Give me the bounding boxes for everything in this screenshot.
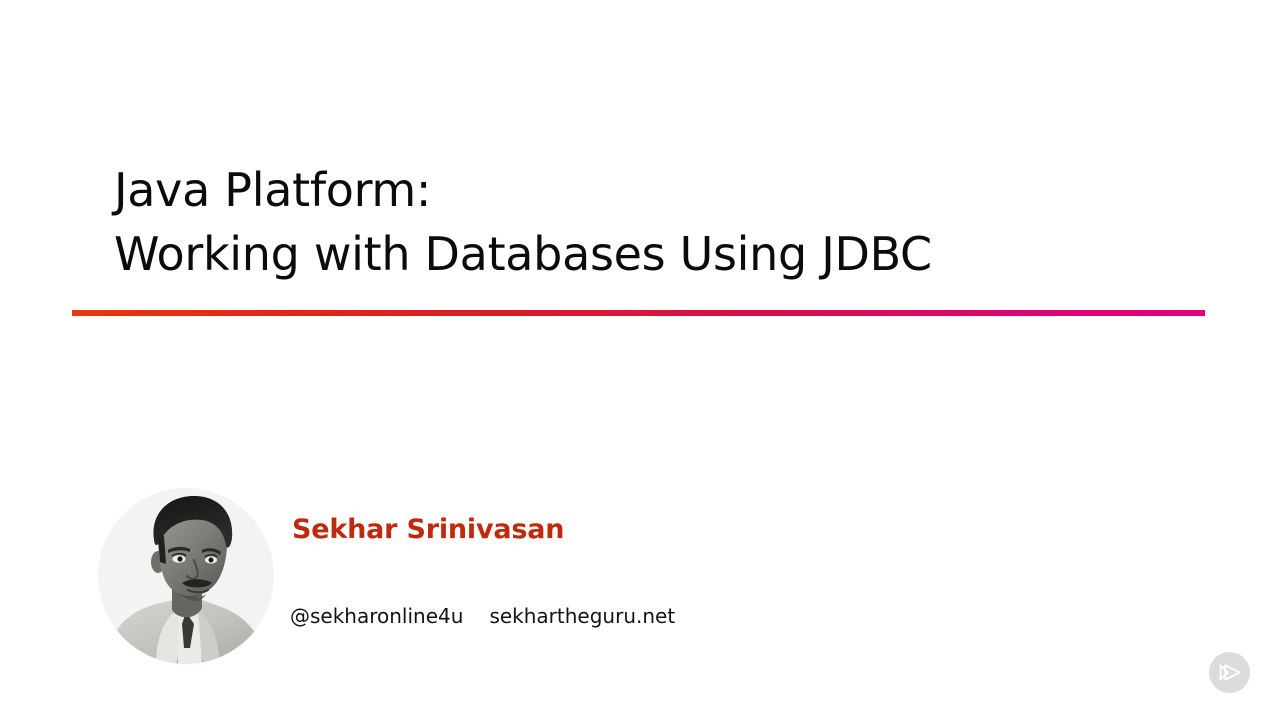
title-slide: Java Platform: Working with Databases Us… [0, 0, 1280, 720]
author-website: sekhartheguru.net [489, 604, 675, 628]
title-line-2: Working with Databases Using JDBC [114, 222, 1194, 286]
author-portrait-photo-icon [98, 488, 274, 664]
page-title: Java Platform: Working with Databases Us… [114, 158, 1194, 286]
avatar [98, 488, 274, 664]
title-line-1: Java Platform: [114, 158, 1194, 222]
pluralsight-play-logo-icon [1209, 652, 1250, 693]
gradient-divider [72, 310, 1205, 316]
author-links: @sekharonline4u sekhartheguru.net [290, 604, 675, 628]
author-name: Sekhar Srinivasan [292, 514, 564, 545]
author-handle: @sekharonline4u [290, 604, 463, 628]
brand-logo [1209, 652, 1250, 693]
